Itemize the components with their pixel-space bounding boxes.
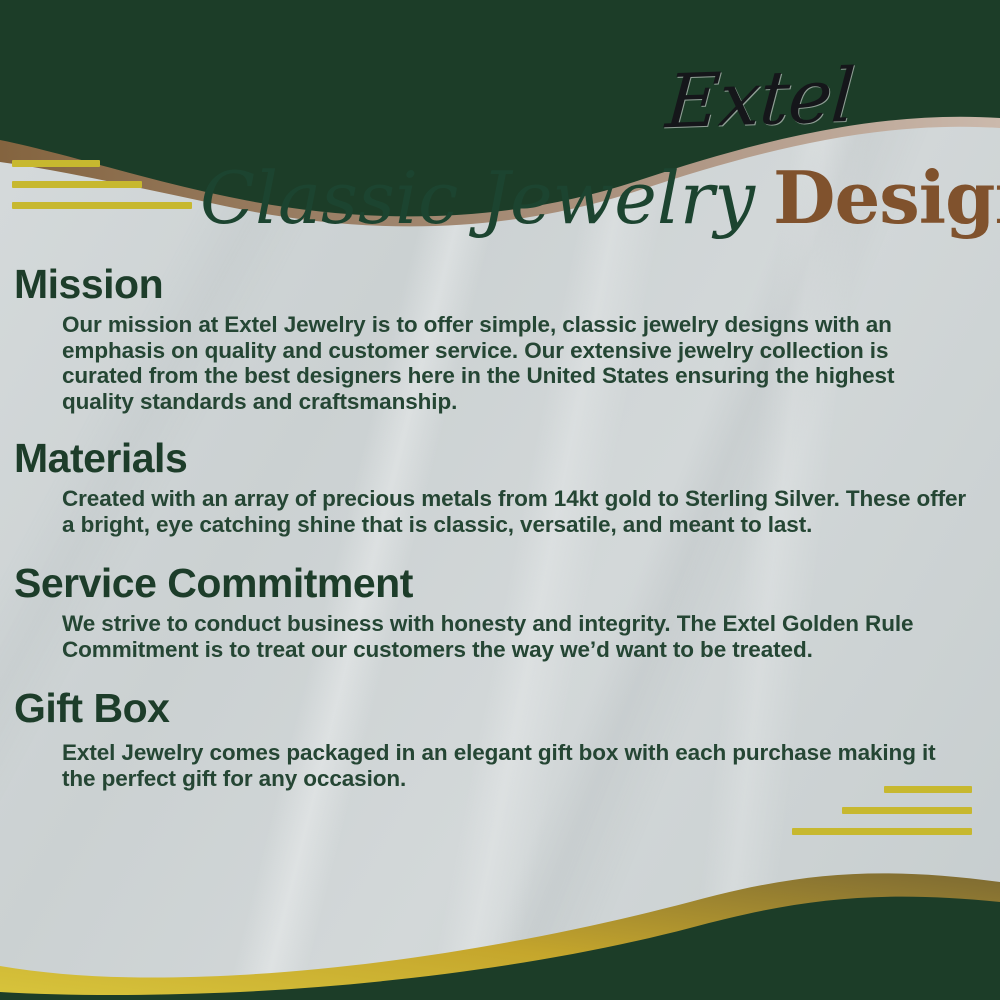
- title-accent-text: Design: [773, 155, 1000, 240]
- left-gold-rules: [12, 160, 192, 223]
- section-mission: Mission Our mission at Extel Jewelry is …: [0, 258, 1000, 414]
- section-body-service-commitment: We strive to conduct business with hones…: [62, 611, 970, 662]
- gold-rule-1: [12, 160, 100, 167]
- section-body-mission: Our mission at Extel Jewelry is to offer…: [62, 312, 970, 414]
- content-sections: Mission Our mission at Extel Jewelry is …: [0, 258, 1000, 805]
- brand-script-logo: Extel: [598, 56, 923, 141]
- gold-rule-3: [12, 202, 192, 209]
- poster-title: Classic JewelryDesign: [200, 155, 960, 245]
- gold-rule-2: [12, 181, 142, 188]
- gold-rule-2: [842, 807, 972, 814]
- gold-rule-3: [792, 828, 972, 835]
- section-heading-materials: Materials: [14, 432, 1000, 484]
- section-gift-box: Gift Box Extel Jewelry comes packaged in…: [0, 682, 1000, 791]
- section-materials: Materials Created with an array of preci…: [0, 432, 1000, 537]
- section-service-commitment: Service Commitment We strive to conduct …: [0, 557, 1000, 662]
- section-heading-mission: Mission: [14, 258, 1000, 310]
- title-main-text: Classic Jewelry: [200, 156, 755, 240]
- poster-canvas: Extel Classic JewelryDesign Mission Our …: [0, 0, 1000, 1000]
- section-heading-gift-box: Gift Box: [14, 682, 1000, 734]
- section-heading-service-commitment: Service Commitment: [14, 557, 1000, 609]
- section-body-gift-box: Extel Jewelry comes packaged in an elega…: [62, 740, 970, 791]
- section-body-materials: Created with an array of precious metals…: [62, 486, 970, 537]
